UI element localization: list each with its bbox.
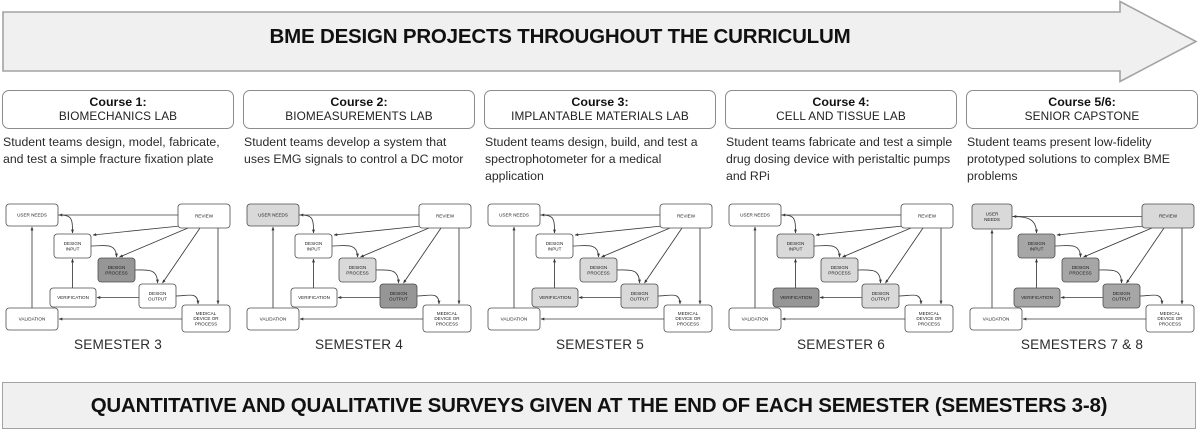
semester-label-2: SEMESTER 4 (243, 337, 475, 352)
flow-node-medical-device[interactable]: MEDICALDEVICE ORPROCESS (1146, 305, 1194, 332)
flowchart-svg: USER NEEDSDESIGNINPUTDESIGNPROCESSDESIGN… (2, 200, 234, 334)
flow-node-design-input[interactable]: DESIGNINPUT (777, 234, 814, 258)
course-name-4: CELL AND TISSUE LAB (776, 110, 906, 123)
flow-node-design-process[interactable]: DESIGNPROCESS (1062, 258, 1099, 282)
flow-node-label: NEEDS (984, 217, 1000, 222)
flow-node-label: INPUT (1030, 246, 1044, 251)
edge-design-output-to-medical-device (1140, 295, 1162, 304)
flow-node-label: PROCESS (346, 270, 368, 275)
flow-node-label: VERIFICATION (57, 295, 89, 300)
flow-node-validation[interactable]: VALIDATION (729, 308, 781, 330)
flow-node-verification[interactable]: VERIFICATION (50, 288, 96, 307)
edge-review-to-design-input (816, 226, 903, 235)
course-name-5: SENIOR CAPSTONE (1025, 110, 1140, 123)
flow-node-label: INPUT (66, 246, 80, 251)
flow-node-review[interactable]: REVIEW (1142, 204, 1194, 228)
edge-user-needs-to-design-input (1012, 217, 1037, 234)
semester-label-5: SEMESTERS 7 & 8 (966, 337, 1198, 352)
flow-node-design-input[interactable]: DESIGNINPUT (536, 234, 573, 258)
edge-review-to-design-process (843, 228, 912, 257)
flow-node-label: PROCESS (828, 270, 850, 275)
flow-node-label: VALIDATION (260, 317, 287, 322)
edge-user-needs-to-design-input (58, 215, 73, 233)
flow-node-label: OUTPUT (1112, 296, 1131, 301)
flow-node-label: VERIFICATION (780, 295, 812, 300)
flow-node-verification[interactable]: VERIFICATION (773, 288, 819, 307)
course-number-2: Course 2: (330, 96, 387, 110)
flow-node-user-needs[interactable]: USER NEEDS (729, 204, 781, 226)
header-arrow-banner: BME DESIGN PROJECTS THROUGHOUT THE CURRI… (0, 0, 1200, 84)
flow-node-label: PROCESS (677, 321, 699, 326)
flow-node-label: VALIDATION (742, 317, 769, 322)
flow-node-design-input[interactable]: DESIGNINPUT (1018, 234, 1055, 258)
flow-node-label: PROCESS (436, 321, 458, 326)
edge-review-to-design-process (1084, 228, 1153, 257)
flow-node-medical-device[interactable]: MEDICALDEVICE ORPROCESS (182, 305, 230, 332)
flow-node-label: VALIDATION (19, 317, 46, 322)
edge-design-process-to-design-output (617, 270, 640, 283)
flow-node-label: PROCESS (1159, 321, 1181, 326)
flow-node-user-needs[interactable]: USER NEEDS (488, 204, 540, 226)
flow-node-design-process[interactable]: DESIGNPROCESS (339, 258, 376, 282)
flow-node-design-input[interactable]: DESIGNINPUT (295, 234, 332, 258)
flow-node-design-input[interactable]: DESIGNINPUT (54, 234, 91, 258)
edge-design-process-to-design-output (135, 270, 158, 283)
infographic-root: BME DESIGN PROJECTS THROUGHOUT THE CURRI… (0, 0, 1200, 438)
flow-node-design-output[interactable]: DESIGNOUTPUT (139, 284, 176, 308)
footer-banner: QUANTITATIVE AND QUALITATIVE SURVEYS GIV… (2, 382, 1196, 429)
edge-review-to-design-input (1057, 226, 1144, 235)
flow-node-label: OUTPUT (630, 296, 649, 301)
flow-node-design-output[interactable]: DESIGNOUTPUT (380, 284, 417, 308)
design-control-flowchart-5: USERNEEDSDESIGNINPUTDESIGNPROCESSDESIGNO… (966, 200, 1198, 334)
edge-review-to-design-input (93, 226, 180, 235)
flow-node-design-process[interactable]: DESIGNPROCESS (98, 258, 135, 282)
flow-node-user-needs[interactable]: USER NEEDS (247, 204, 299, 226)
edge-design-input-to-design-process (814, 246, 840, 257)
semester-label-3: SEMESTER 5 (484, 337, 716, 352)
flow-node-validation[interactable]: VALIDATION (247, 308, 299, 330)
course-column-3: Course 3: IMPLANTABLE MATERIALS LAB Stud… (484, 88, 716, 365)
flow-node-label: OUTPUT (389, 296, 408, 301)
edge-design-output-to-medical-device (417, 295, 439, 304)
edge-design-process-to-design-output (858, 270, 881, 283)
course-number-3: Course 3: (571, 96, 628, 110)
header-title: BME DESIGN PROJECTS THROUGHOUT THE CURRI… (0, 0, 1120, 74)
flow-node-label: VERIFICATION (539, 295, 571, 300)
flow-node-review[interactable]: REVIEW (901, 204, 953, 228)
semester-label-4: SEMESTER 6 (725, 337, 957, 352)
course-header-box-4[interactable]: Course 4: CELL AND TISSUE LAB (725, 90, 957, 129)
course-header-box-5[interactable]: Course 5/6: SENIOR CAPSTONE (966, 90, 1198, 129)
design-control-flowchart-2: USER NEEDSDESIGNINPUTDESIGNPROCESSDESIGN… (243, 200, 475, 334)
edge-design-process-to-design-output (376, 270, 399, 283)
flow-node-verification[interactable]: VERIFICATION (1014, 288, 1060, 307)
flow-node-validation[interactable]: VALIDATION (488, 308, 540, 330)
flow-node-label: PROCESS (1069, 270, 1091, 275)
edge-design-output-to-medical-device (899, 295, 921, 304)
flow-node-label: USER NEEDS (258, 213, 288, 218)
course-header-box-1[interactable]: Course 1: BIOMECHANICS LAB (2, 90, 234, 129)
course-name-1: BIOMECHANICS LAB (59, 110, 177, 123)
flow-node-label: INPUT (548, 246, 562, 251)
flow-node-label: INPUT (789, 246, 803, 251)
design-control-flowchart-4: USER NEEDSDESIGNINPUTDESIGNPROCESSDESIGN… (725, 200, 957, 334)
flow-node-label: VERIFICATION (298, 295, 330, 300)
flow-node-label: REVIEW (436, 214, 455, 219)
course-column-1: Course 1: BIOMECHANICS LAB Student teams… (2, 88, 234, 365)
flow-node-label: PROCESS (587, 270, 609, 275)
course-number-4: Course 4: (812, 96, 869, 110)
edge-design-output-to-medical-device (658, 295, 680, 304)
flow-node-label: PROCESS (195, 321, 217, 326)
edge-design-process-to-design-output (1099, 270, 1122, 283)
design-control-flowchart-1: USER NEEDSDESIGNINPUTDESIGNPROCESSDESIGN… (2, 200, 234, 334)
course-number-5: Course 5/6: (1048, 96, 1115, 110)
flow-node-verification[interactable]: VERIFICATION (532, 288, 578, 307)
flow-node-user-needs[interactable]: USERNEEDS (972, 204, 1012, 229)
flow-node-label: OUTPUT (871, 296, 890, 301)
edge-review-to-design-input (575, 226, 662, 235)
course-name-2: BIOMEASUREMENTS LAB (285, 110, 432, 123)
course-number-1: Course 1: (89, 96, 146, 110)
flow-node-review[interactable]: REVIEW (660, 204, 712, 228)
flow-node-label: REVIEW (195, 214, 214, 219)
flow-node-verification[interactable]: VERIFICATION (291, 288, 337, 307)
flow-node-user-needs[interactable]: USER NEEDS (6, 204, 58, 226)
footer-title: QUANTITATIVE AND QUALITATIVE SURVEYS GIV… (91, 394, 1108, 418)
flow-node-medical-device[interactable]: MEDICALDEVICE ORPROCESS (664, 305, 712, 332)
flow-node-label: INPUT (307, 246, 321, 251)
flow-node-label: USER NEEDS (740, 213, 770, 218)
flow-node-design-process[interactable]: DESIGNPROCESS (580, 258, 617, 282)
course-name-3: IMPLANTABLE MATERIALS LAB (511, 110, 689, 123)
flow-node-review[interactable]: REVIEW (419, 204, 471, 228)
course-column-4: Course 4: CELL AND TISSUE LAB Student te… (725, 88, 957, 365)
flowchart-svg: USER NEEDSDESIGNINPUTDESIGNPROCESSDESIGN… (725, 200, 957, 334)
flow-node-label: REVIEW (918, 214, 937, 219)
course-header-box-2[interactable]: Course 2: BIOMEASUREMENTS LAB (243, 90, 475, 129)
flow-node-label: VERIFICATION (1021, 295, 1053, 300)
flow-node-label: PROCESS (105, 270, 127, 275)
flowchart-svg: USERNEEDSDESIGNINPUTDESIGNPROCESSDESIGNO… (966, 200, 1198, 334)
course-header-box-3[interactable]: Course 3: IMPLANTABLE MATERIALS LAB (484, 90, 716, 129)
flow-node-design-output[interactable]: DESIGNOUTPUT (621, 284, 658, 308)
course-columns: Course 1: BIOMECHANICS LAB Student teams… (0, 88, 1200, 365)
course-column-2: Course 2: BIOMEASUREMENTS LAB Student te… (243, 88, 475, 365)
course-column-5: Course 5/6: SENIOR CAPSTONE Student team… (966, 88, 1198, 365)
course-description-5: Student teams present low-fidelity proto… (967, 134, 1197, 185)
flowchart-svg: USER NEEDSDESIGNINPUTDESIGNPROCESSDESIGN… (243, 200, 475, 334)
flow-node-review[interactable]: REVIEW (178, 204, 230, 228)
flowchart-svg: USER NEEDSDESIGNINPUTDESIGNPROCESSDESIGN… (484, 200, 716, 334)
course-description-2: Student teams develop a system that uses… (244, 134, 474, 168)
flow-node-label: VALIDATION (983, 317, 1010, 322)
edge-user-needs-to-design-input (540, 215, 555, 233)
flow-node-validation[interactable]: VALIDATION (6, 308, 58, 330)
flow-node-medical-device[interactable]: MEDICALDEVICE ORPROCESS (905, 305, 953, 332)
flow-node-design-output[interactable]: DESIGNOUTPUT (1103, 284, 1140, 308)
course-description-3: Student teams design, build, and test a … (485, 134, 715, 185)
edge-design-input-to-design-process (91, 246, 117, 257)
edge-user-needs-to-design-input (781, 215, 796, 233)
edge-design-output-to-medical-device (176, 295, 198, 304)
edge-design-input-to-design-process (1055, 246, 1081, 257)
flow-node-label: VALIDATION (501, 317, 528, 322)
flow-node-design-output[interactable]: DESIGNOUTPUT (862, 284, 899, 308)
course-description-4: Student teams fabricate and test a simpl… (726, 134, 956, 185)
flow-node-label: OUTPUT (148, 296, 167, 301)
edge-review-to-design-input (334, 226, 421, 235)
flow-node-validation[interactable]: VALIDATION (970, 308, 1022, 330)
flow-node-label: REVIEW (1159, 214, 1178, 219)
semester-label-1: SEMESTER 3 (2, 337, 234, 352)
flow-node-label: USER NEEDS (499, 213, 529, 218)
edge-design-input-to-design-process (332, 246, 358, 257)
edge-design-input-to-design-process (573, 246, 599, 257)
design-control-flowchart-3: USER NEEDSDESIGNINPUTDESIGNPROCESSDESIGN… (484, 200, 716, 334)
edge-user-needs-to-design-input (299, 215, 314, 233)
flow-node-label: USER NEEDS (17, 213, 47, 218)
flow-node-label: PROCESS (918, 321, 940, 326)
flow-node-medical-device[interactable]: MEDICALDEVICE ORPROCESS (423, 305, 471, 332)
flow-node-label: REVIEW (677, 214, 696, 219)
edge-review-to-design-process (602, 228, 671, 257)
edge-review-to-design-process (361, 228, 430, 257)
course-description-1: Student teams design, model, fabricate, … (3, 134, 233, 168)
flow-node-design-process[interactable]: DESIGNPROCESS (821, 258, 858, 282)
edge-review-to-design-process (120, 228, 189, 257)
